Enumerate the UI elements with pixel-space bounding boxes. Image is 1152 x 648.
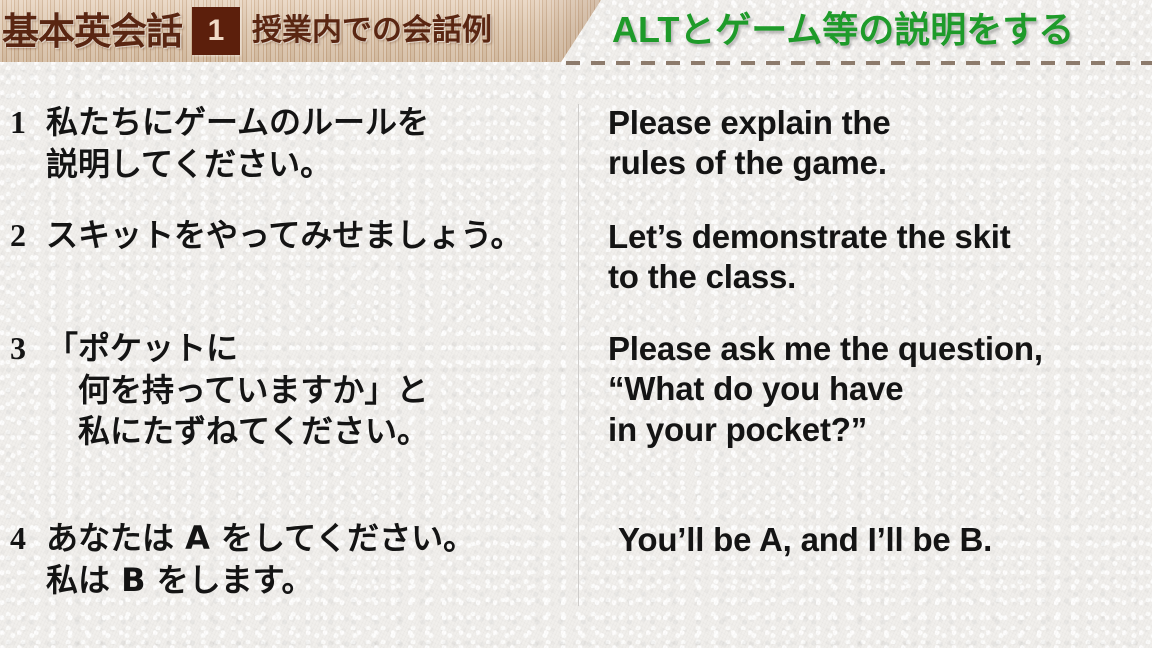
english-text: Let’s demonstrate the skit to the class. (608, 217, 1011, 298)
japanese-cell: 1 私たちにゲームのルールを 説明してください。 (10, 102, 429, 185)
slide-canvas: 基本英会話 1 授業内での会話例 ALTとゲーム等の説明をする 1 私たちにゲー… (0, 0, 1152, 648)
japanese-text: あなたは A をしてください。 私は B をします。 (46, 518, 475, 601)
japanese-text: 「ポケットに 何を持っていますか」と 私にたずねてください。 (46, 328, 429, 453)
japanese-cell: 3 「ポケットに 何を持っていますか」と 私にたずねてください。 (10, 328, 429, 453)
english-text: Please ask me the question, “What do you… (608, 329, 1043, 450)
phrase-number: 2 (10, 215, 46, 257)
japanese-cell: 2 スキットをやってみせましょう。 (10, 215, 522, 257)
phrase-number: 1 (10, 102, 46, 144)
phrase-number: 3 (10, 328, 46, 370)
japanese-text: スキットをやってみせましょう。 (46, 215, 522, 257)
japanese-cell: 4 あなたは A をしてください。 私は B をします。 (10, 518, 475, 601)
english-text: You’ll be A, and I’ll be B. (618, 520, 992, 560)
japanese-text: 私たちにゲームのルールを 説明してください。 (46, 102, 429, 185)
phrase-list: 1 私たちにゲームのルールを 説明してください。 Please explain … (0, 0, 1152, 648)
english-text: Please explain the rules of the game. (608, 103, 891, 184)
phrase-number: 4 (10, 518, 46, 560)
